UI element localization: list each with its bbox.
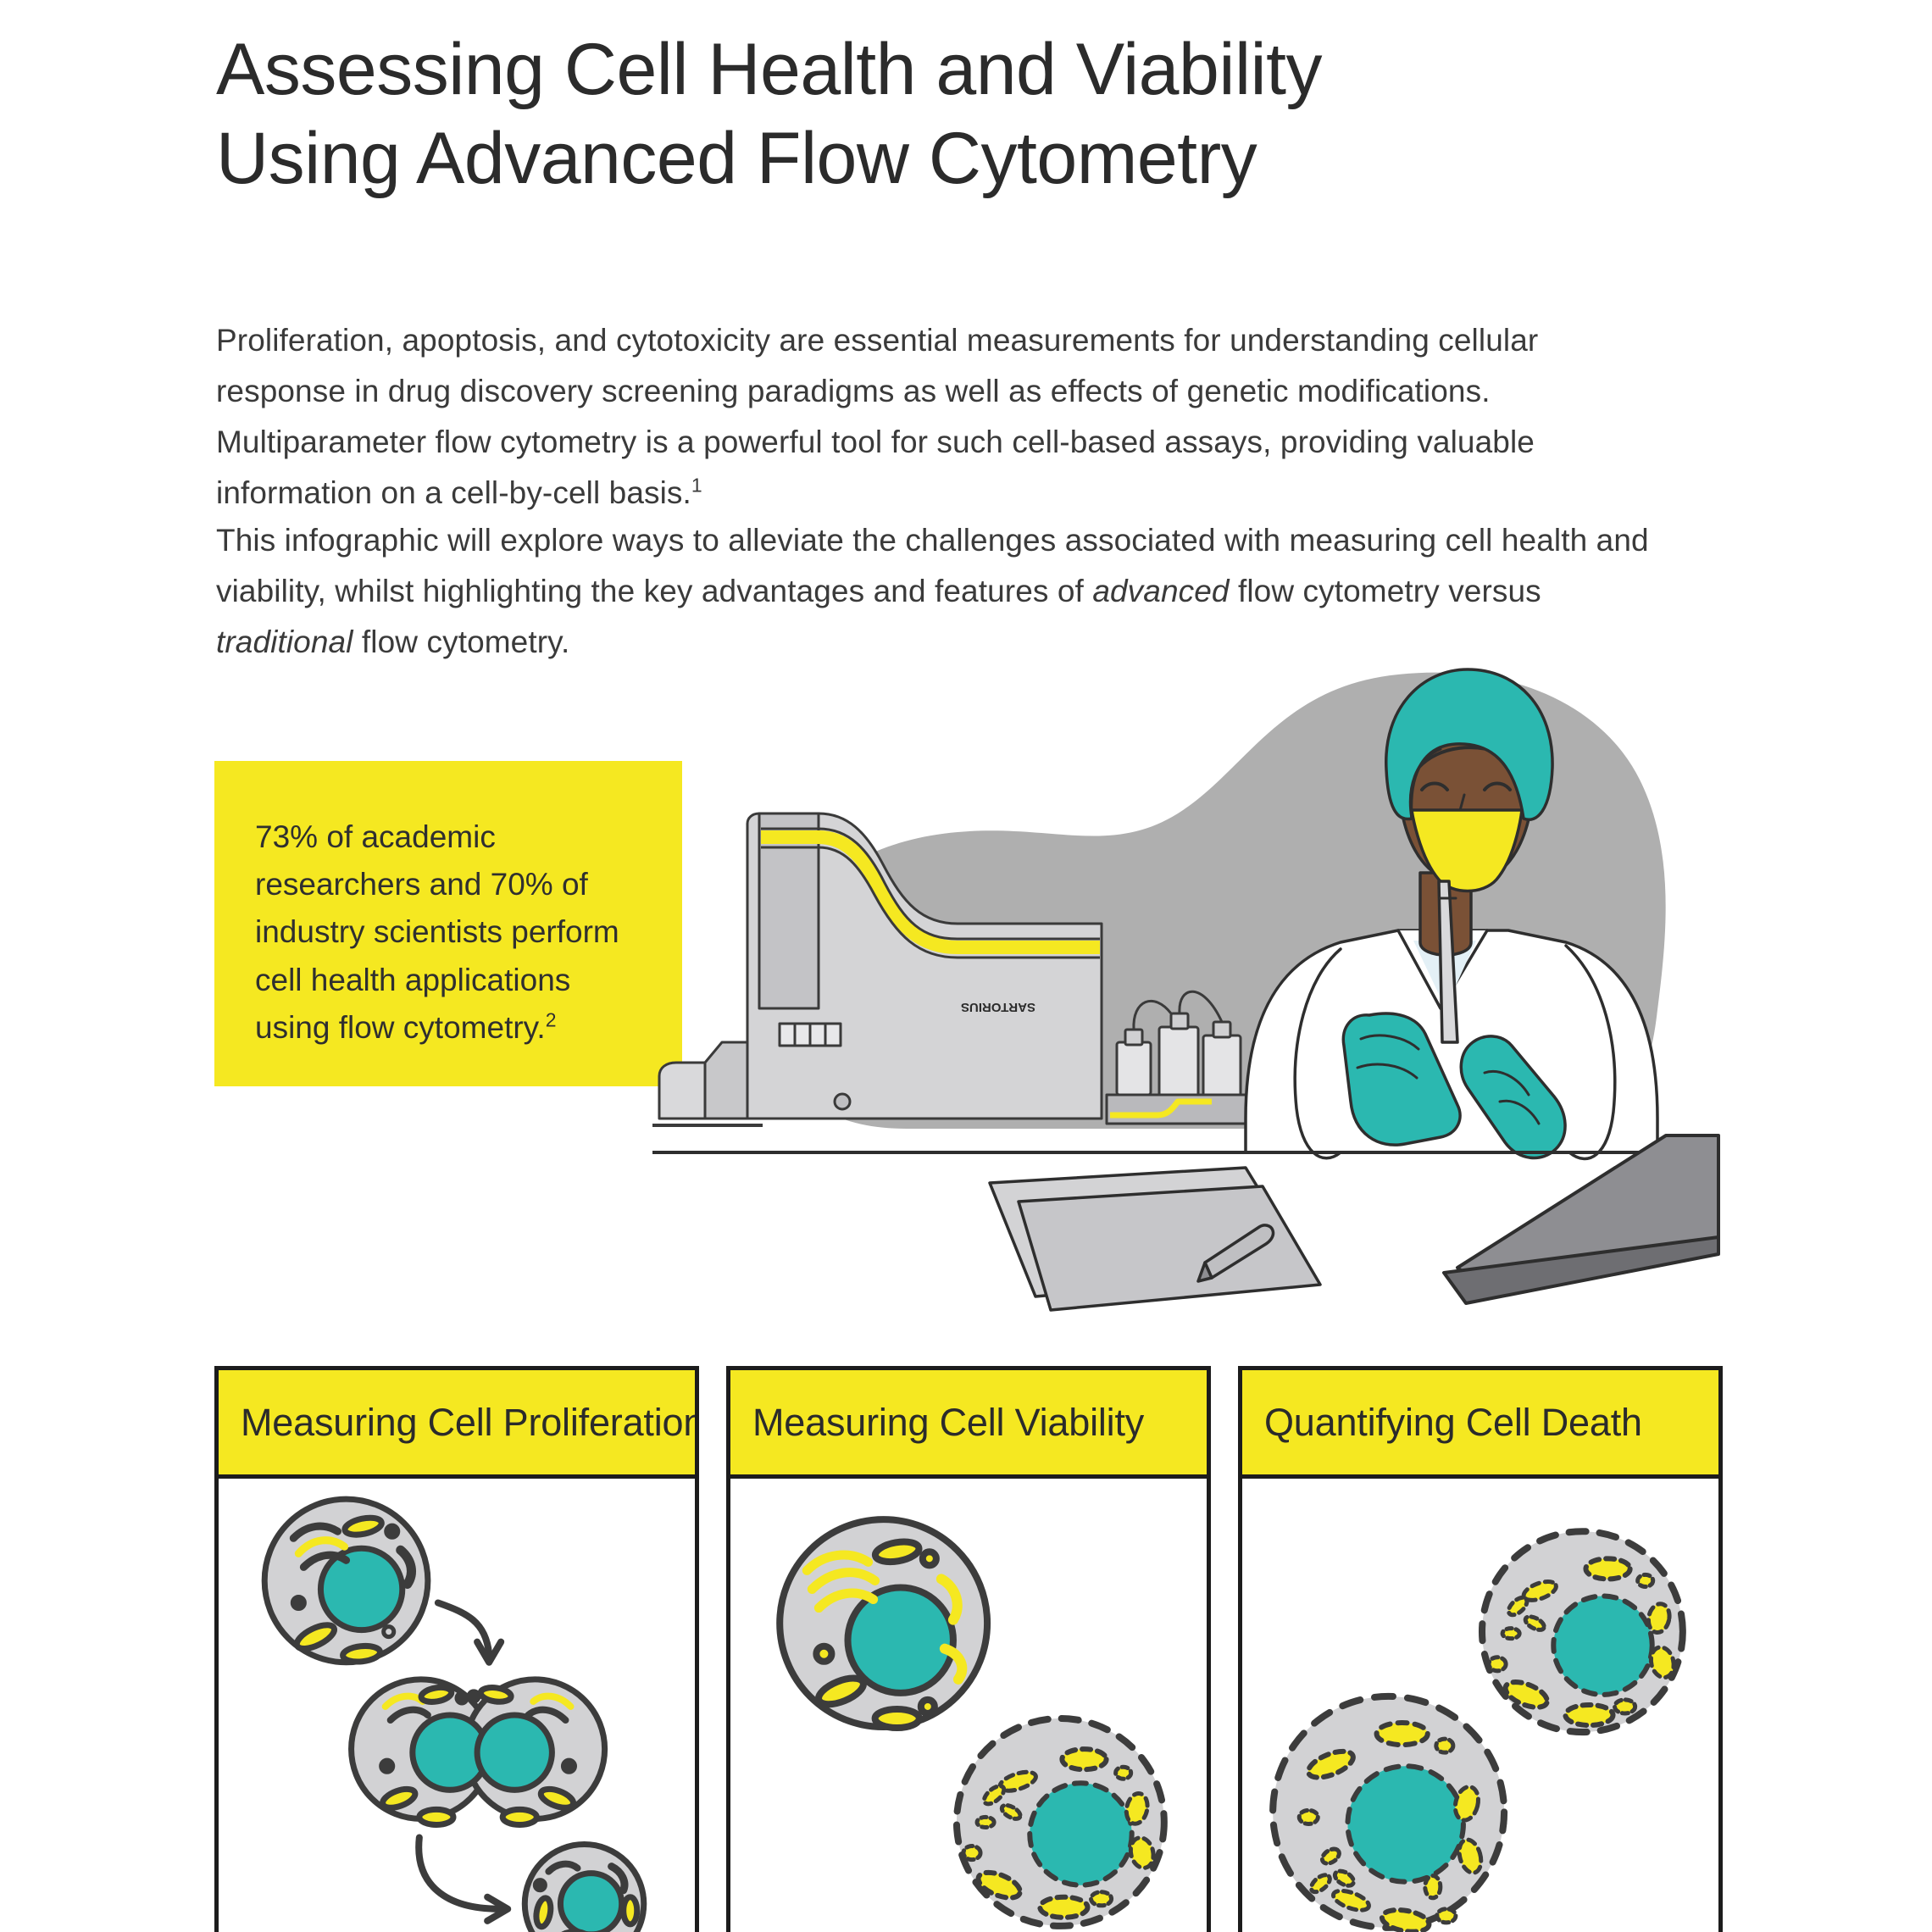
infographic-page: Assessing Cell Health and Viability Usin… [0,0,1932,1932]
viable-cell [780,1519,987,1728]
instrument-brand-label: SARTORIUS [961,1000,1035,1014]
card-header-proliferation: Measuring Cell Proliferation [219,1370,695,1479]
title-line-1: Assessing Cell Health and Viability [216,29,1322,110]
nucleus [1553,1596,1652,1694]
dying-cell-lower [1273,1696,1504,1932]
statistic-callout-body: 73% of academic researchers and 70% of i… [255,819,619,1045]
card-title-cell-death: Quantifying Cell Death [1264,1401,1642,1445]
card-header-viability: Measuring Cell Viability [730,1370,1207,1479]
dividing-cell [352,1679,605,1825]
lab-scene-illustration: SARTORIUS [652,644,1720,1330]
intro-paragraph-1-text: Proliferation, apoptosis, and cytotoxici… [216,323,1538,510]
footnote-marker-2: 2 [546,1009,557,1031]
laptop [1444,1135,1718,1303]
statistic-callout-text: 73% of academic researchers and 70% of i… [255,813,628,1052]
card-title-proliferation: Measuring Cell Proliferation [241,1401,699,1445]
nonviable-cell [957,1718,1164,1926]
daughter-cell [525,1845,644,1932]
nucleus [1347,1766,1463,1881]
page-title: Assessing Cell Health and Viability Usin… [216,25,1657,203]
title-line-2: Using Advanced Flow Cytometry [216,114,1657,203]
card-title-viability: Measuring Cell Viability [752,1401,1144,1445]
intro-paragraph-2-part2: flow cytometry versus [1230,574,1541,608]
nucleus [320,1548,402,1629]
parent-cell [264,1499,428,1663]
topic-cards-row: Measuring Cell Proliferation [214,1366,1723,1932]
card-quantifying-cell-death[interactable]: Quantifying Cell Death [1238,1366,1723,1932]
emphasis-advanced: advanced [1092,574,1229,608]
nucleus [560,1874,621,1932]
card-illustration-viability [730,1479,1207,1932]
intro-paragraph-2-part3: flow cytometry. [353,625,570,659]
card-measuring-cell-viability[interactable]: Measuring Cell Viability [726,1366,1211,1932]
dying-cell-upper [1482,1531,1683,1732]
footnote-marker-1: 1 [691,474,702,496]
card-header-cell-death: Quantifying Cell Death [1242,1370,1718,1479]
card-illustration-cell-death [1242,1479,1718,1932]
intro-paragraph-1: Proliferation, apoptosis, and cytotoxici… [216,315,1665,519]
statistic-callout-box: 73% of academic researchers and 70% of i… [214,761,682,1086]
card-measuring-cell-proliferation[interactable]: Measuring Cell Proliferation [214,1366,699,1932]
emphasis-traditional: traditional [216,625,353,659]
daughter-nucleus-right [477,1715,552,1790]
nucleus [847,1587,952,1692]
card-illustration-proliferation [219,1479,695,1932]
nucleus [1030,1783,1131,1885]
